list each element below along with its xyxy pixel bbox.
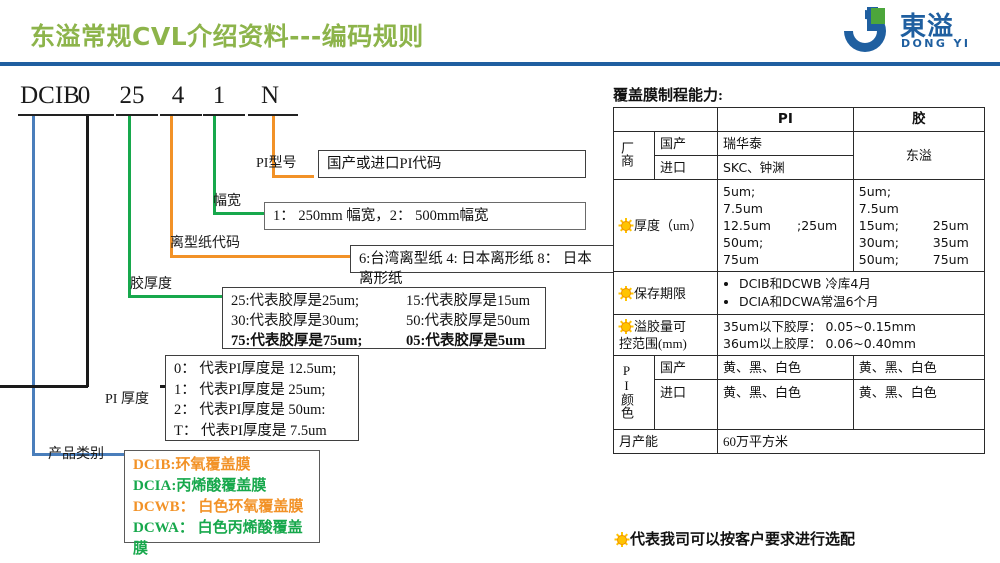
pi-thickness-row-4: T： 代表PI厚度是 7.5um (174, 421, 350, 442)
logo-text-en: DONG YI (901, 37, 970, 50)
thickness-label-text: 厚度（um） (634, 218, 703, 233)
capability-title: 覆盖膜制程能力: (613, 84, 723, 105)
cell-pi-color-domestic-label: 国产 (655, 356, 718, 380)
th-gl-1a: 5um; (859, 183, 933, 200)
connector-pi-thickness-horizontal (0, 385, 88, 388)
glue-row-3-left: 75:代表胶厚是75um; (231, 331, 406, 351)
pi-thickness-row-2: 1： 代表PI厚度是 25um; (174, 380, 350, 401)
desc-box-glue-thickness: 25:代表胶厚是25um; 15:代表胶厚是15um 30:代表胶厚是30um;… (222, 287, 546, 349)
cell-thickness-pi: 5um; 7.5um 12.5um;25um 50um; 75um (718, 180, 854, 272)
th-gl-3b: 25um (933, 217, 969, 234)
connector-release-paper-horizontal (170, 255, 350, 258)
table-row-pi-color-domestic: PI颜色 国产 黄、黑、白色 黄、黑、白色 (614, 356, 985, 380)
label-product-category: 产品类别 (48, 443, 104, 463)
desc-pi-model-text: 国产或进口PI代码 (327, 156, 441, 172)
code-segment-4: 4 (162, 82, 194, 110)
code-segment-n: N (252, 82, 288, 110)
cell-pi-color-glue-import: 黄、黑、白色 (853, 380, 984, 430)
desc-release-paper-text: 6:台湾离型纸 4: 日本离形纸 8： 日本离形纸 (359, 251, 592, 287)
code-underline-1 (203, 114, 245, 116)
table-row-overflow: 溢胶量可 控范围(mm) 35um以下胶厚： 0.05~0.15mm 36um以… (614, 315, 985, 356)
overflow-item-1: 35um以下胶厚： 0.05~0.15mm (723, 318, 979, 335)
connector-pi-thickness (86, 116, 89, 387)
cell-pi-color-glue-domestic: 黄、黑、白色 (853, 356, 984, 380)
cell-maker-label: 厂商 (614, 132, 655, 180)
sun-icon (619, 287, 632, 300)
desc-box-width: 1： 250mm 幅宽，2： 500mm幅宽 (264, 202, 586, 230)
category-row-dcia: DCIA:丙烯酸覆盖膜 (133, 476, 311, 497)
category-row-dcwb: DCWB： 白色环氧覆盖膜 (133, 497, 311, 518)
overflow-label-line1: 溢胶量可 (634, 319, 686, 334)
overflow-label-line2: 控范围(mm) (619, 335, 712, 352)
glue-row-1-left: 25:代表胶厚是25um; (231, 291, 406, 311)
connector-glue-thickness-horizontal (128, 295, 223, 298)
maker-label-text: 厂商 (619, 141, 634, 167)
th-pi-1a: 5um; (723, 183, 797, 200)
code-underline-0 (72, 114, 114, 116)
header-glue: 胶 (853, 108, 984, 132)
cell-overflow-label: 溢胶量可 控范围(mm) (614, 315, 718, 356)
table-row-capacity: 月产能 60万平方米 (614, 430, 985, 454)
footer-note: 代表我司可以按客户要求进行选配 (615, 528, 855, 549)
glue-row-1: 25:代表胶厚是25um; 15:代表胶厚是15um (231, 291, 537, 311)
dongyi-logo-icon (838, 4, 896, 54)
company-logo: 東溢 DONG YI (838, 4, 988, 56)
header-pi: PI (718, 108, 854, 132)
code-underline-dcib (18, 114, 80, 116)
desc-box-pi-model: 国产或进口PI代码 (318, 150, 586, 178)
shelf-life-item-1: DCIB和DCWB 冷库4月 (739, 275, 979, 293)
code-segment-25: 25 (112, 82, 152, 110)
th-pi-2a: 7.5um (723, 200, 797, 217)
cell-maker-pi-import: SKC、钟渊 (718, 156, 854, 180)
glue-row-3: 75:代表胶厚是75um; 05:代表胶厚是5um (231, 331, 537, 351)
label-pi-model: PI型号 (256, 152, 296, 172)
desc-box-release-paper: 6:台湾离型纸 4: 日本离形纸 8： 日本离形纸 (350, 245, 615, 273)
page-title: 东溢常规CVL介绍资料---编码规则 (30, 17, 424, 53)
cell-maker-import-label: 进口 (655, 156, 718, 180)
desc-box-pi-thickness: 0： 代表PI厚度是 12.5um; 1： 代表PI厚度是 25um; 2： 代… (165, 355, 359, 441)
category-row-dcwa: DCWA： 白色丙烯酸覆盖膜 (133, 518, 311, 560)
glue-row-1-right: 15:代表胶厚是15um (406, 291, 530, 311)
cell-shelf-life-value: DCIB和DCWB 冷库4月 DCIA和DCWA常温6个月 (718, 272, 985, 315)
glue-row-2-right: 50:代表胶厚是50um (406, 311, 530, 331)
glue-row-2: 30:代表胶厚是30um; 50:代表胶厚是50um (231, 311, 537, 331)
desc-box-product-category: DCIB:环氧覆盖膜 DCIA:丙烯酸覆盖膜 DCWB： 白色环氧覆盖膜 DCW… (124, 450, 320, 543)
pi-color-label-text: PI颜色 (619, 363, 634, 419)
table-header-row: PI 胶 (614, 108, 985, 132)
cell-overflow-value: 35um以下胶厚： 0.05~0.15mm 36um以上胶厚： 0.06~0.4… (718, 315, 985, 356)
shelf-life-label-text: 保存期限 (634, 286, 686, 301)
cell-capacity-value: 60万平方米 (718, 430, 985, 454)
th-pi-4a: 50um; (723, 234, 797, 251)
sun-icon (619, 219, 632, 232)
cell-thickness-glue: 5um; 7.5um 15um;25um 30um;35um 50um;75um (853, 180, 984, 272)
th-gl-3a: 15um; (859, 217, 933, 234)
pi-thickness-row-1: 0： 代表PI厚度是 12.5um; (174, 359, 350, 380)
pi-thickness-row-3: 2： 代表PI厚度是 50um: (174, 400, 350, 421)
connector-width-horizontal (213, 212, 265, 215)
cell-maker-glue: 东溢 (853, 132, 984, 180)
th-pi-3a: 12.5um (723, 217, 797, 234)
cell-shelf-life-label: 保存期限 (614, 272, 718, 315)
th-gl-5a: 50um; (859, 251, 933, 268)
code-underline-4 (160, 114, 202, 116)
cell-pi-color-label: PI颜色 (614, 356, 655, 430)
code-segment-0: 0 (68, 82, 100, 110)
glue-row-3-right: 05:代表胶厚是5um (406, 331, 525, 351)
cell-pi-color-pi-domestic: 黄、黑、白色 (718, 356, 854, 380)
th-pi-5a: 75um (723, 251, 797, 268)
footer-note-text: 代表我司可以按客户要求进行选配 (630, 532, 855, 548)
th-gl-2a: 7.5um (859, 200, 933, 217)
th-gl-5b: 75um (933, 251, 969, 268)
glue-row-2-left: 30:代表胶厚是30um; (231, 311, 406, 331)
header-blank (614, 108, 718, 132)
category-row-dcib: DCIB:环氧覆盖膜 (133, 455, 311, 476)
table-row-pi-color-import: 进口 黄、黑、白色 黄、黑、白色 (614, 380, 985, 430)
desc-width-text: 1： 250mm 幅宽，2： 500mm幅宽 (273, 208, 489, 224)
cell-maker-pi-domestic: 瑞华泰 (718, 132, 854, 156)
code-underline-25 (116, 114, 158, 116)
label-pi-thickness: PI 厚度 (105, 388, 149, 408)
table-row-shelf-life: 保存期限 DCIB和DCWB 冷库4月 DCIA和DCWA常温6个月 (614, 272, 985, 315)
th-gl-4b: 35um (933, 234, 969, 251)
cell-maker-domestic-label: 国产 (655, 132, 718, 156)
connector-glue-thickness (128, 116, 131, 298)
capability-table: PI 胶 厂商 国产 瑞华泰 东溢 进口 SKC、钟渊 厚度（um） 5um; … (613, 107, 985, 454)
cell-pi-color-pi-import: 黄、黑、白色 (718, 380, 854, 430)
label-release-paper: 离型纸代码 (170, 232, 240, 252)
overflow-item-2: 36um以上胶厚： 0.06~0.40mm (723, 335, 979, 352)
cell-pi-color-import-label: 进口 (655, 380, 718, 430)
th-gl-4a: 30um; (859, 234, 933, 251)
header-divider (0, 62, 1000, 66)
table-row-thickness: 厚度（um） 5um; 7.5um 12.5um;25um 50um; 75um… (614, 180, 985, 272)
shelf-life-item-2: DCIA和DCWA常温6个月 (739, 293, 979, 311)
sun-icon (619, 320, 632, 333)
connector-dcib (32, 116, 35, 456)
connector-pi-model-horizontal (272, 175, 314, 178)
code-segment-1: 1 (203, 82, 235, 110)
cell-thickness-label: 厚度（um） (614, 180, 718, 272)
label-width: 幅宽 (213, 190, 241, 210)
label-glue-thickness: 胶厚度 (130, 273, 172, 293)
sun-icon (615, 533, 628, 546)
th-pi-3b: ;25um (797, 217, 837, 234)
table-row-maker-domestic: 厂商 国产 瑞华泰 东溢 (614, 132, 985, 156)
cell-capacity-label: 月产能 (614, 430, 718, 454)
